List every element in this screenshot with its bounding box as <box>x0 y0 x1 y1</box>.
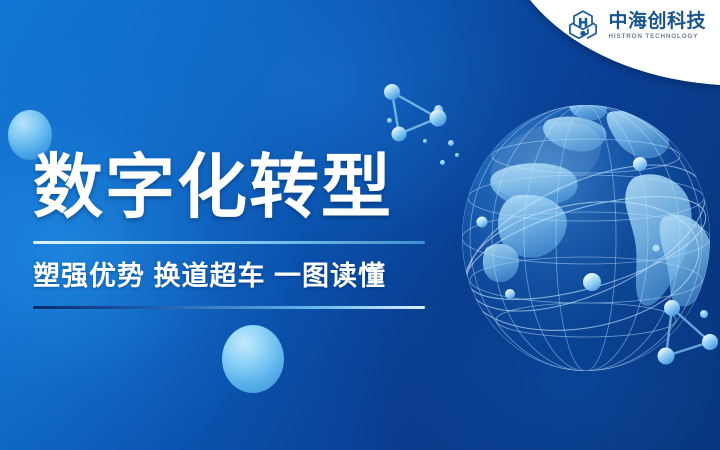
decor-dot-4 <box>387 118 392 123</box>
decor-dot-1 <box>434 105 443 114</box>
decor-dot-5 <box>423 139 427 143</box>
decor-dot-7 <box>700 310 708 318</box>
decor-dot-2 <box>448 140 454 146</box>
divider-bottom <box>33 306 425 309</box>
divider-top <box>33 241 425 244</box>
decor-sphere-bottom-left <box>222 325 284 393</box>
decor-dot-6 <box>440 160 445 165</box>
logo-company-name-cn: 中海创科技 <box>608 12 706 31</box>
logo-company-name-en: HISTRON TECHNOLOGY <box>608 34 706 40</box>
histron-emblem-icon <box>565 8 601 44</box>
company-logo[interactable]: 中海创科技 HISTRON TECHNOLOGY <box>565 8 706 44</box>
logo-text-block: 中海创科技 HISTRON TECHNOLOGY <box>608 12 706 40</box>
decor-dot-3 <box>455 153 459 157</box>
page-title: 数字化转型 <box>33 152 428 223</box>
page-subtitle: 塑强优势 换道超车 一图读懂 <box>33 254 428 293</box>
wireframe-globe-icon <box>452 98 720 378</box>
globe-node-group <box>477 157 660 299</box>
network-triangle-top-icon <box>372 78 456 150</box>
promo-banner: 数字化转型 塑强优势 换道超车 一图读懂 中海创科技 HISTRON <box>0 0 720 450</box>
decor-dot-8 <box>663 360 667 364</box>
network-triangle-bottom-icon <box>638 288 720 380</box>
headline-block: 数字化转型 塑强优势 换道超车 一图读懂 <box>33 152 428 309</box>
